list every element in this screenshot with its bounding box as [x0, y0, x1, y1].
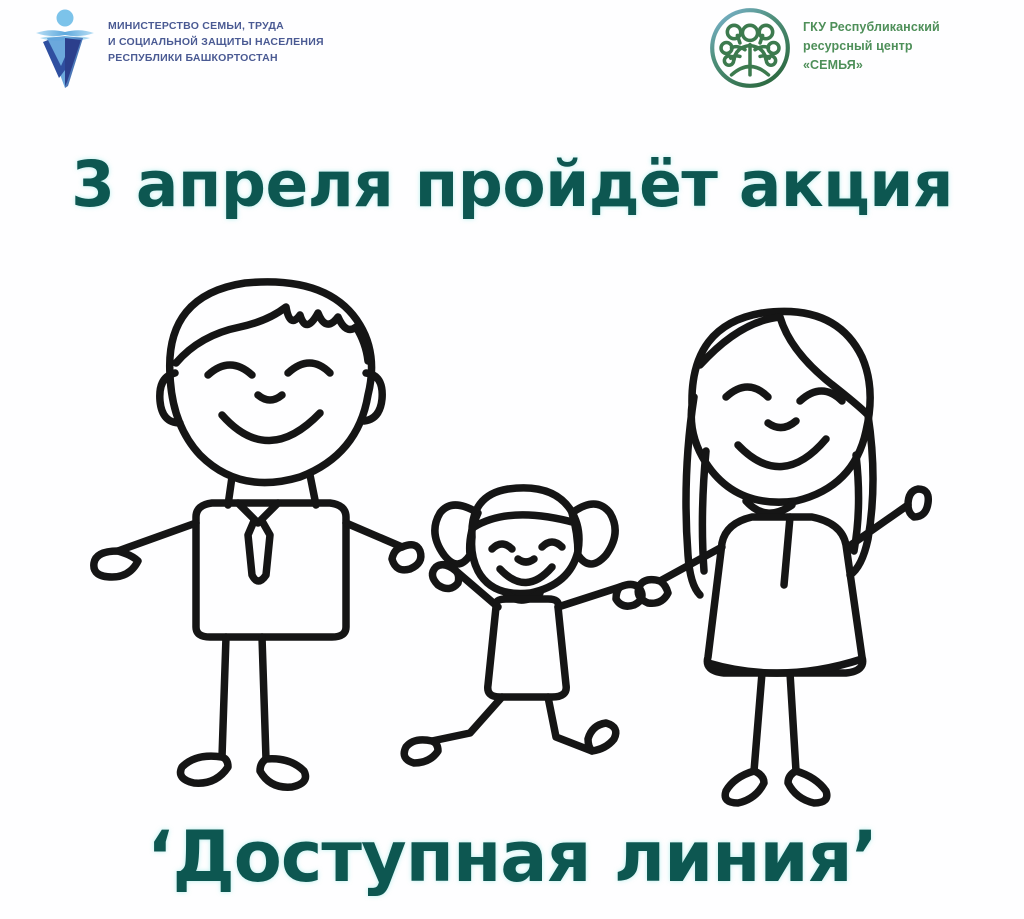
- poster-canvas: МИНИСТЕРСТВО СЕМЬИ, ТРУДА И СОЦИАЛЬНОЙ З…: [0, 0, 1024, 919]
- campaign-name-text: ‘Доступная линия’: [0, 816, 1024, 898]
- resource-center-logo-text: ГКУ Республиканский ресурсный центр «СЕМ…: [803, 18, 940, 75]
- ministry-logo-line-3: РЕСПУБЛИКИ БАШКОРТОСТАН: [108, 50, 324, 66]
- resource-center-logo: ГКУ Республиканский ресурсный центр «СЕМ…: [708, 6, 940, 90]
- resource-center-logo-line-2: ресурсный центр: [803, 37, 940, 56]
- resource-center-logo-line-1: ГКУ Республиканский: [803, 18, 940, 37]
- family-illustration: [0, 255, 1024, 815]
- headline-text: 3 апреля пройдёт акция: [0, 148, 1024, 221]
- poster-header: МИНИСТЕРСТВО СЕМЬИ, ТРУДА И СОЦИАЛЬНОЙ З…: [0, 0, 1024, 100]
- mother-figure: [638, 311, 928, 803]
- family-stick-figure-drawing-icon: [0, 255, 1024, 815]
- ministry-logo-text: МИНИСТЕРСТВО СЕМЬИ, ТРУДА И СОЦИАЛЬНОЙ З…: [108, 18, 324, 66]
- ministry-person-checkmark-emblem-icon: [34, 8, 96, 90]
- ministry-logo-line-1: МИНИСТЕРСТВО СЕМЬИ, ТРУДА: [108, 18, 324, 34]
- father-figure: [94, 282, 421, 787]
- ministry-logo-line-2: И СОЦИАЛЬНОЙ ЗАЩИТЫ НАСЕЛЕНИЯ: [108, 34, 324, 50]
- resource-center-logo-line-3: «СЕМЬЯ»: [803, 56, 940, 75]
- child-figure: [404, 488, 642, 763]
- tree-in-circle-emblem-icon: [708, 6, 792, 90]
- ministry-logo: МИНИСТЕРСТВО СЕМЬИ, ТРУДА И СОЦИАЛЬНОЙ З…: [34, 8, 324, 90]
